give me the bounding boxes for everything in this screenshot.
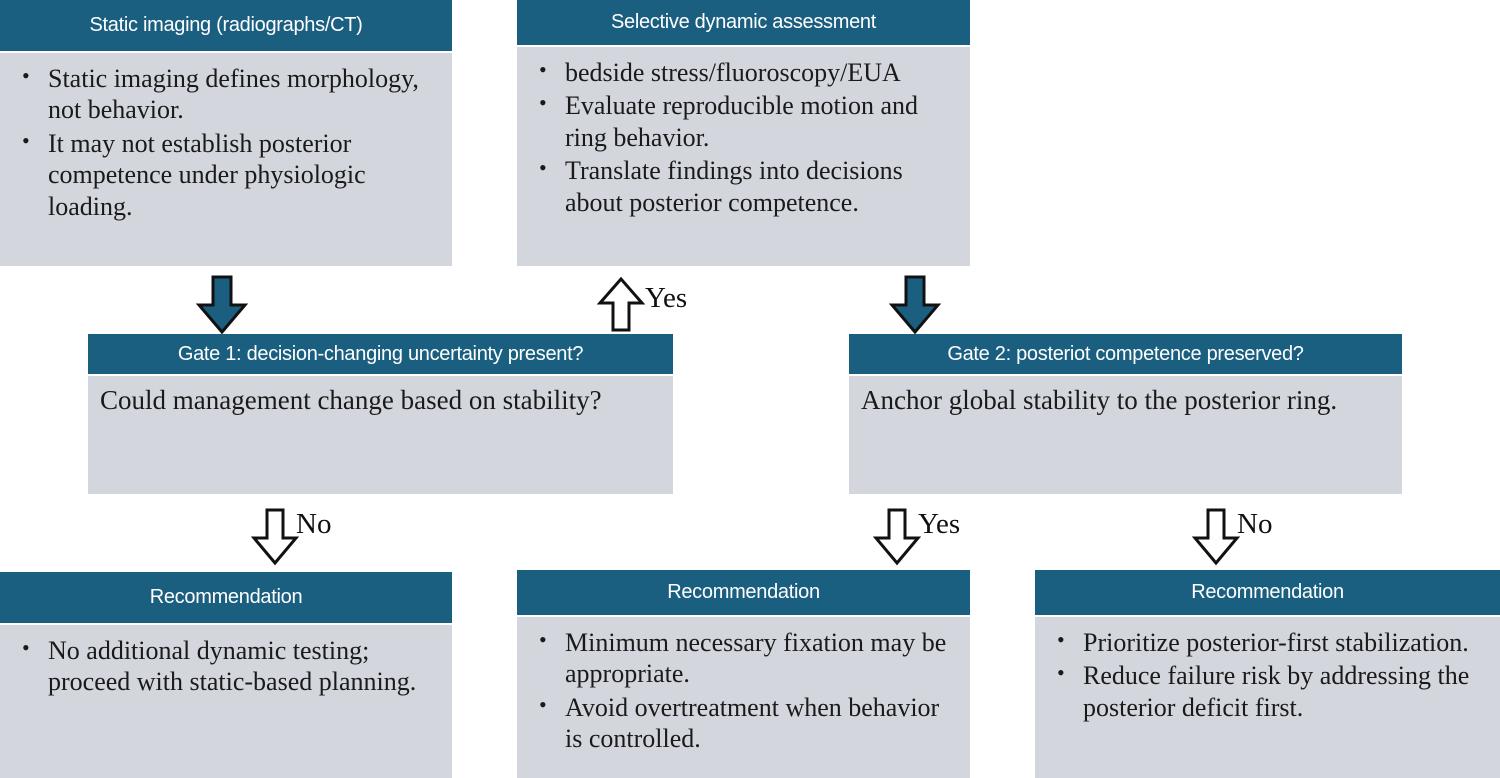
node-static-imaging[interactable]: Static imaging (radiographs/CT) Static i… (0, 0, 452, 266)
list-item: Prioritize posterior-first stabilization… (1045, 627, 1488, 658)
node-recommendation-left[interactable]: Recommendation No additional dynamic tes… (0, 572, 452, 778)
bullet-list: Minimum necessary fixation may be approp… (527, 627, 958, 755)
flowchart-canvas: Static imaging (radiographs/CT) Static i… (0, 0, 1500, 778)
list-item: Evaluate reproducible motion and ring be… (527, 90, 958, 153)
bullet-list: Prioritize posterior-first stabilization… (1045, 627, 1488, 723)
node-dynamic-assessment-header: Selective dynamic assessment (517, 0, 970, 45)
connector-gate2-to-rec-middle-label: Yes (918, 510, 960, 539)
connector-gate1-to-rec-left-label: No (296, 510, 331, 539)
connector-gate1-to-dynamic-arrow (597, 277, 645, 333)
gate1-question: Could management change based on stabili… (98, 384, 661, 416)
node-static-imaging-body: Static imaging defines morphology, not b… (0, 53, 452, 266)
connector-static-to-gate1-arrow (196, 275, 248, 335)
node-recommendation-right-body: Prioritize posterior-first stabilization… (1035, 617, 1500, 778)
node-gate2-header: Gate 2: posteriot competence preserved? (849, 334, 1402, 374)
node-dynamic-assessment-body: bedside stress/fluoroscopy/EUA Evaluate … (517, 47, 970, 266)
list-item: No additional dynamic testing; proceed w… (10, 635, 440, 698)
node-gate2-body: Anchor global stability to the posterior… (849, 376, 1402, 494)
connector-dynamic-to-gate2-arrow (889, 275, 941, 335)
list-item: Reduce failure risk by addressing the po… (1045, 660, 1488, 723)
bullet-list: Static imaging defines morphology, not b… (10, 63, 440, 222)
node-gate2[interactable]: Gate 2: posteriot competence preserved? … (849, 334, 1402, 494)
connector-gate2-to-rec-right-arrow (1192, 508, 1240, 566)
node-recommendation-middle-body: Minimum necessary fixation may be approp… (517, 617, 970, 778)
node-gate1-body: Could management change based on stabili… (88, 376, 673, 494)
list-item: bedside stress/fluoroscopy/EUA (527, 57, 958, 88)
gate2-statement: Anchor global stability to the posterior… (859, 384, 1390, 416)
connector-gate2-to-rec-right-label: No (1237, 510, 1272, 539)
node-static-imaging-header: Static imaging (radiographs/CT) (0, 0, 452, 51)
node-recommendation-left-header: Recommendation (0, 572, 452, 623)
node-recommendation-right[interactable]: Recommendation Prioritize posterior-firs… (1035, 570, 1500, 778)
node-recommendation-middle-header: Recommendation (517, 570, 970, 615)
connector-gate1-to-rec-left-arrow (251, 508, 299, 566)
connector-gate2-to-rec-middle-arrow (873, 508, 921, 566)
bullet-list: bedside stress/fluoroscopy/EUA Evaluate … (527, 57, 958, 218)
node-dynamic-assessment[interactable]: Selective dynamic assessment bedside str… (517, 0, 970, 266)
list-item: Minimum necessary fixation may be approp… (527, 627, 958, 690)
bullet-list: No additional dynamic testing; proceed w… (10, 635, 440, 698)
connector-gate1-to-dynamic-label: Yes (645, 284, 687, 313)
node-gate1[interactable]: Gate 1: decision-changing uncertainty pr… (88, 334, 673, 494)
node-recommendation-right-header: Recommendation (1035, 570, 1500, 615)
node-recommendation-middle[interactable]: Recommendation Minimum necessary fixatio… (517, 570, 970, 778)
list-item: Static imaging defines morphology, not b… (10, 63, 440, 126)
list-item: Avoid overtreatment when behavior is con… (527, 692, 958, 755)
node-recommendation-left-body: No additional dynamic testing; proceed w… (0, 625, 452, 778)
node-gate1-header: Gate 1: decision-changing uncertainty pr… (88, 334, 673, 374)
list-item: It may not establish posterior competenc… (10, 128, 440, 222)
list-item: Translate findings into decisions about … (527, 155, 958, 218)
